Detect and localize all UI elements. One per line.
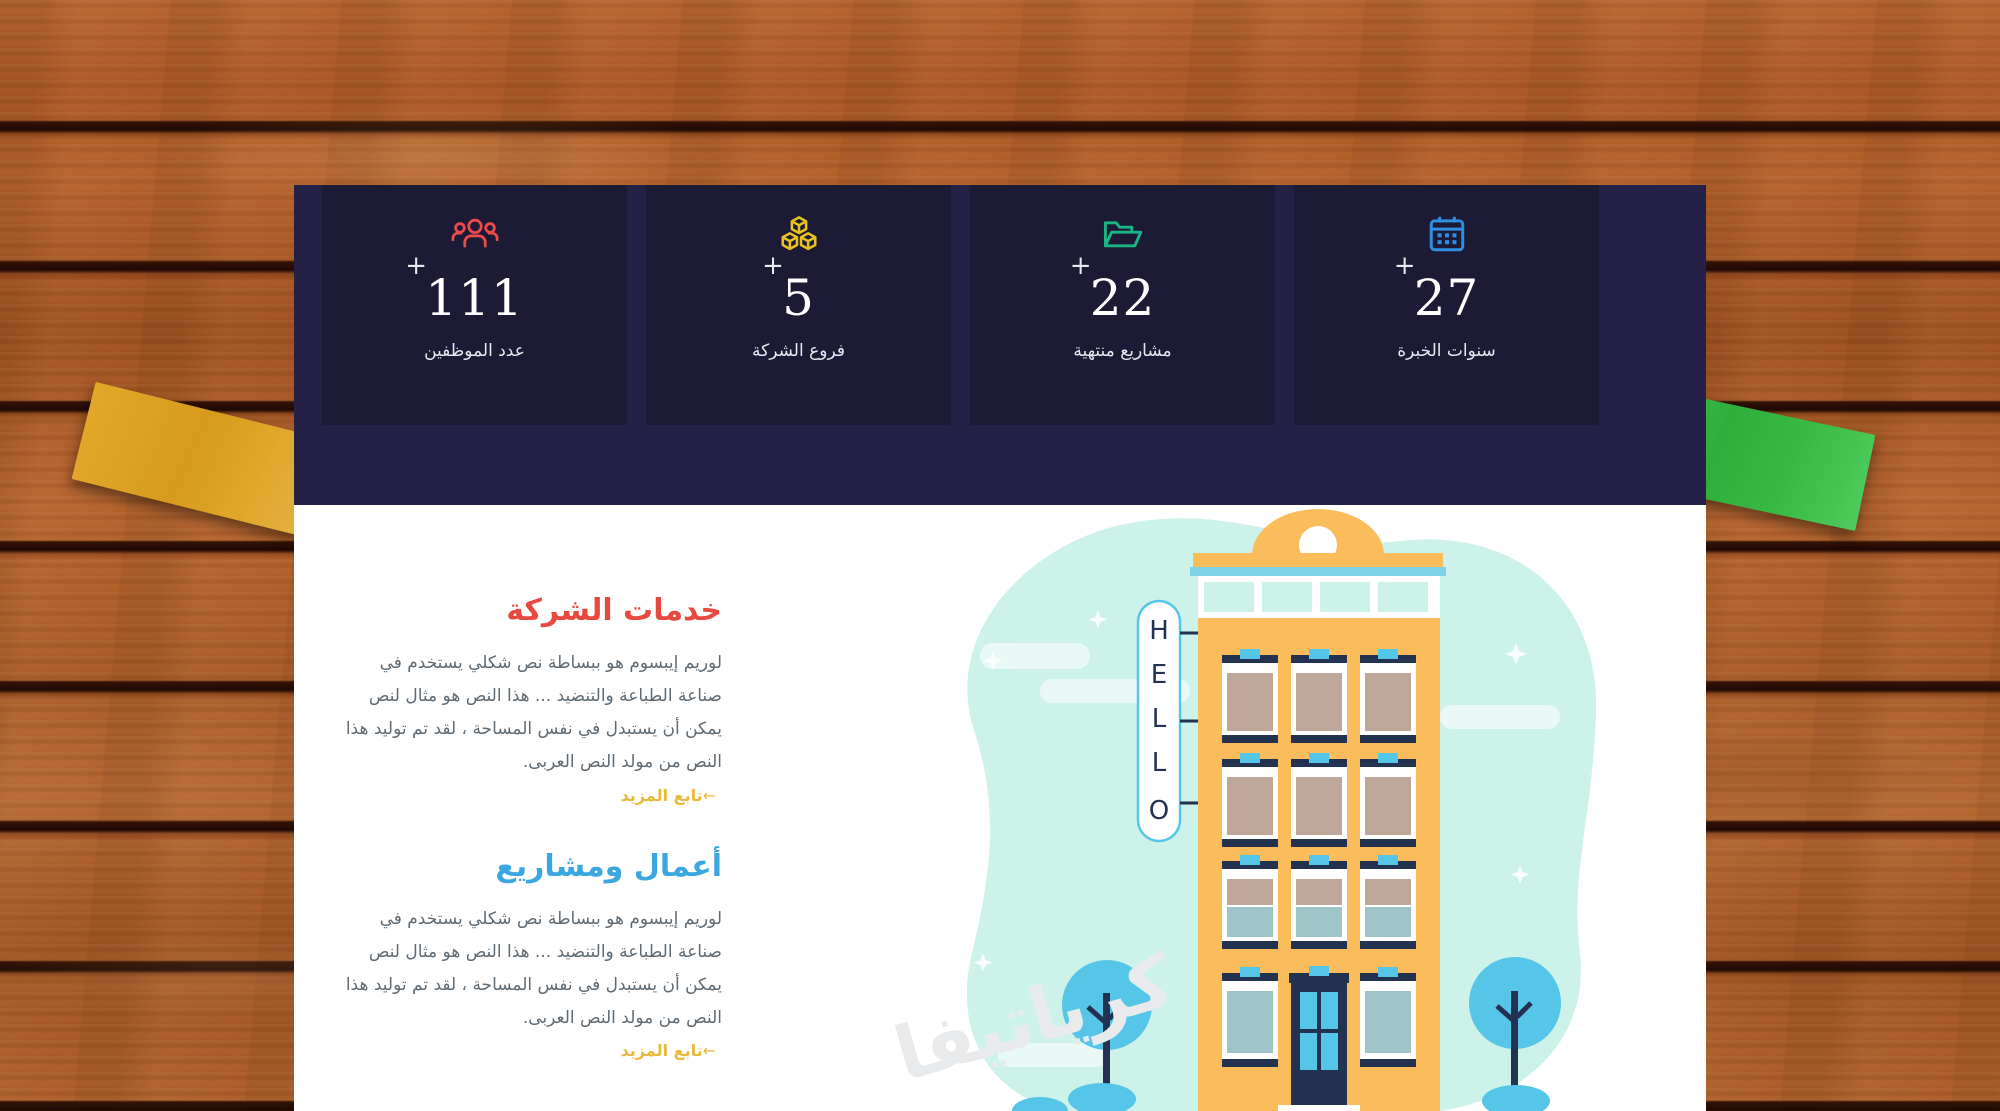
stat-gap xyxy=(1275,185,1294,425)
content-panel: H E L L O xyxy=(294,505,1706,1111)
stat-gap xyxy=(627,185,646,425)
stat-value: + 111 xyxy=(425,273,523,323)
stats-row: + 27 سنوات الخبرة + 22 xyxy=(294,185,1706,425)
windows-floor-3 xyxy=(1222,855,1416,949)
sign-letter-E: E xyxy=(1151,660,1167,690)
stat-number-text: 5 xyxy=(782,269,815,327)
windows-floor-1 xyxy=(1222,649,1416,743)
stat-plus: + xyxy=(762,253,785,279)
stat-label: مشاريع منتهية xyxy=(970,341,1275,361)
stat-number-text: 22 xyxy=(1090,269,1156,327)
read-more-label: تابع المزيد xyxy=(621,786,703,805)
stat-label: فروع الشركة xyxy=(646,341,951,361)
building xyxy=(1190,509,1446,1111)
sign-letter-H: H xyxy=(1149,616,1169,646)
read-more-link-projects[interactable]: ←تابع المزيد xyxy=(621,1041,722,1060)
block-body: لوريم إيبسوم هو ببساطة نص شكلي يستخدم في… xyxy=(334,647,722,780)
sign-letter-O: O xyxy=(1149,796,1169,826)
stat-card-projects[interactable]: + 22 مشاريع منتهية xyxy=(970,185,1275,425)
block-title: خدمات الشركة xyxy=(334,593,722,629)
content-block-services: خدمات الشركة لوريم إيبسوم هو ببساطة نص ش… xyxy=(334,593,722,805)
stat-number-text: 27 xyxy=(1414,269,1480,327)
sign-letter-L1: L xyxy=(1152,704,1167,734)
page-root: + 27 سنوات الخبرة + 22 xyxy=(0,0,2000,1111)
read-more-link-services[interactable]: ←تابع المزيد xyxy=(621,786,722,805)
stat-plus: + xyxy=(1070,253,1093,279)
cubes-icon xyxy=(646,207,951,261)
read-more-label: تابع المزيد xyxy=(621,1041,703,1060)
text-column: خدمات الشركة لوريم إيبسوم هو ببساطة نص ش… xyxy=(294,505,814,1111)
stat-card-years[interactable]: + 27 سنوات الخبرة xyxy=(1294,185,1599,425)
stat-label: عدد الموظفين xyxy=(322,341,627,361)
stat-value: + 5 xyxy=(782,273,815,323)
stats-panel: + 27 سنوات الخبرة + 22 xyxy=(294,185,1706,505)
users-group-icon xyxy=(322,207,627,261)
stats-lead-spacer xyxy=(1599,185,1706,425)
arrow-left-icon: ← xyxy=(703,786,716,805)
office-building-illustration: H E L L O xyxy=(880,505,1640,1111)
stat-plus: + xyxy=(1394,253,1417,279)
stat-gap xyxy=(951,185,970,425)
arrow-left-icon: ← xyxy=(703,1041,716,1060)
illustration-column: H E L L O xyxy=(814,505,1706,1111)
sign-letter-L2: L xyxy=(1152,748,1167,778)
folder-open-icon xyxy=(970,207,1275,261)
stat-value: + 22 xyxy=(1090,273,1156,323)
stat-card-employees[interactable]: + 111 عدد الموظفين xyxy=(322,185,627,425)
block-title: أعمال ومشاريع xyxy=(334,849,722,885)
stat-value: + 27 xyxy=(1414,273,1480,323)
stat-plus: + xyxy=(405,253,428,279)
calendar-icon xyxy=(1294,207,1599,261)
block-body: لوريم إيبسوم هو ببساطة نص شكلي يستخدم في… xyxy=(334,903,722,1036)
windows-floor-2 xyxy=(1222,753,1416,847)
content-block-projects: أعمال ومشاريع لوريم إيبسوم هو ببساطة نص … xyxy=(334,849,722,1061)
stat-number-text: 111 xyxy=(425,269,523,327)
stat-card-branches[interactable]: + 5 فروع الشركة xyxy=(646,185,951,425)
stat-label: سنوات الخبرة xyxy=(1294,341,1599,361)
